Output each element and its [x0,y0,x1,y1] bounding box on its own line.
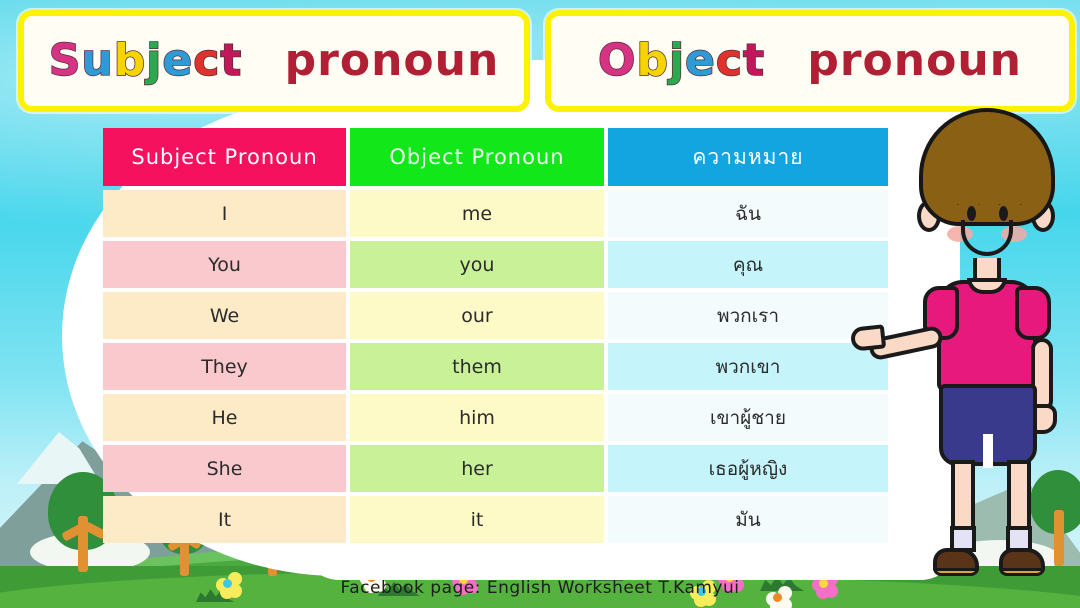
table-row: We our พวกเรา [103,292,888,339]
cell-object: you [350,241,604,288]
banner-right-title: Object pronoun [598,39,1022,83]
table-row: You you คุณ [103,241,888,288]
boy-pointing-hand-icon [850,324,886,351]
cell-object: our [350,292,604,339]
table-row: It it มัน [103,496,888,543]
cell-subject: He [103,394,346,441]
boy-shoe-sole-right [999,568,1045,576]
boy-shoe-sole-left [933,568,979,576]
table-header-row: Subject Pronoun Object Pronoun ความหมาย [103,128,888,186]
cell-object: them [350,343,604,390]
footer-credit: Facebook page: English Worksheet T.Kamyu… [0,578,1080,598]
banner-left-word2: pronoun [285,35,500,86]
banner-right-word2: pronoun [807,35,1022,86]
worksheet-canvas: Subject pronoun Object pronoun Subject P… [0,0,1080,608]
cell-meaning: พวกเขา [608,343,888,390]
boy-shorts-split [983,434,993,468]
cell-meaning: ฉัน [608,190,888,237]
cell-meaning: พวกเรา [608,292,888,339]
boy-hair [919,108,1055,226]
cell-subject: I [103,190,346,237]
banner-right-word1: Object [598,35,765,86]
cell-object: me [350,190,604,237]
cell-subject: She [103,445,346,492]
table-row: I me ฉัน [103,190,888,237]
banner-left-word1: Subject [49,35,243,86]
cell-meaning: เขาผู้ชาย [608,394,888,441]
cell-meaning: คุณ [608,241,888,288]
table-row: They them พวกเขา [103,343,888,390]
boy-eye-right [999,206,1008,221]
cell-meaning: มัน [608,496,888,543]
boy-leg-right [1007,460,1031,532]
cell-subject: We [103,292,346,339]
header-object-pronoun: Object Pronoun [350,128,604,186]
boy-eye-left [967,206,976,221]
boy-leg-left [951,460,975,532]
header-meaning-thai: ความหมาย [608,128,888,186]
table-row: She her เธอผู้หญิง [103,445,888,492]
boy-sleeve-right [1015,286,1051,340]
cell-subject: You [103,241,346,288]
boy-character-illustration [895,108,1075,578]
cell-object: her [350,445,604,492]
banner-object-pronoun: Object pronoun [545,10,1075,112]
banner-left-title: Subject pronoun [49,39,500,83]
cell-object: him [350,394,604,441]
banner-subject-pronoun: Subject pronoun [18,10,530,112]
header-subject-pronoun: Subject Pronoun [103,128,346,186]
table-row: He him เขาผู้ชาย [103,394,888,441]
boy-smile-mouth [961,220,1013,256]
cell-meaning: เธอผู้หญิง [608,445,888,492]
cell-subject: They [103,343,346,390]
pronoun-table: Subject Pronoun Object Pronoun ความหมาย … [103,128,888,547]
cell-subject: It [103,496,346,543]
cell-object: it [350,496,604,543]
